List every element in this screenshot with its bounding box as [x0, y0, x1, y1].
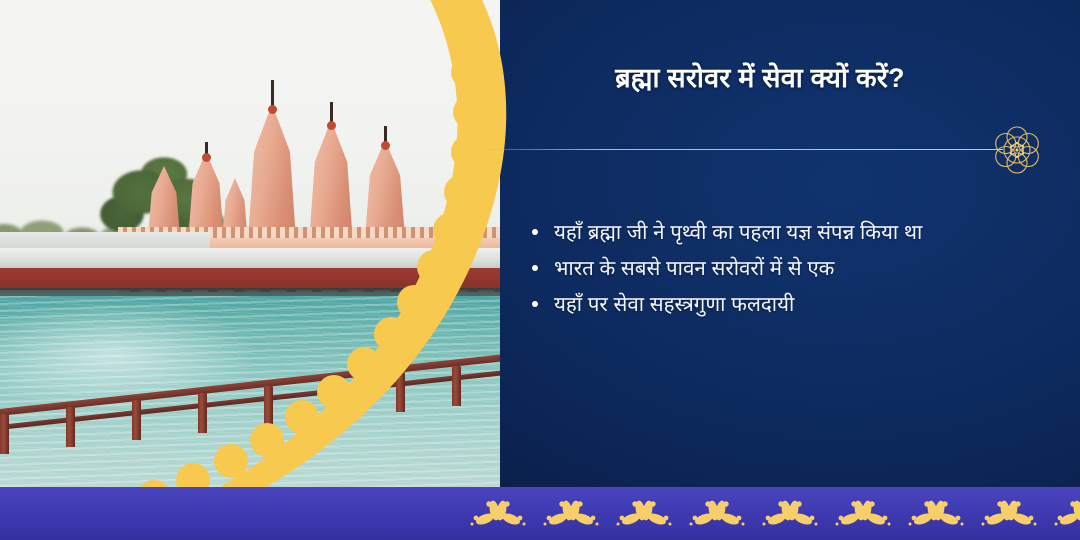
- lotus-floral-motif-icon: [689, 497, 745, 531]
- list-item: यहाँ पर सेवा सहस्त्रगुणा फलदायी: [528, 290, 1028, 319]
- lotus-floral-motif-icon: [470, 497, 526, 531]
- temple-photo: [0, 0, 500, 540]
- divider: [488, 140, 1068, 160]
- wooden-fence: [0, 352, 500, 482]
- page-title: ब्रह्मा सरोवर में सेवा क्यों करें?: [500, 62, 1020, 96]
- gold-divider-line: [488, 149, 1003, 150]
- bullet-list: यहाँ ब्रह्मा जी ने पृथ्वी का पहला यज्ञ स…: [528, 218, 1028, 326]
- lotus-floral-motif-icon: [616, 497, 672, 531]
- mandala-rosette-icon: [986, 119, 1048, 181]
- lotus-floral-motif-icon: [762, 497, 818, 531]
- lotus-floral-motif-icon: [981, 497, 1037, 531]
- band-motif-row: [0, 487, 1080, 540]
- lotus-floral-motif-icon: [543, 497, 599, 531]
- poster-canvas: ब्रह्मा सरोवर में सेवा क्यों करें?: [0, 0, 1080, 540]
- list-item: भारत के सबसे पावन सरोवरों में से एक: [528, 254, 1028, 283]
- lotus-floral-motif-icon: [908, 497, 964, 531]
- lotus-floral-motif-icon: [835, 497, 891, 531]
- list-item: यहाँ ब्रह्मा जी ने पृथ्वी का पहला यज्ञ स…: [528, 218, 1028, 247]
- ghat-platform: [0, 248, 500, 270]
- ghat-red-wall: [0, 268, 500, 290]
- lotus-floral-motif-icon: [1054, 497, 1080, 531]
